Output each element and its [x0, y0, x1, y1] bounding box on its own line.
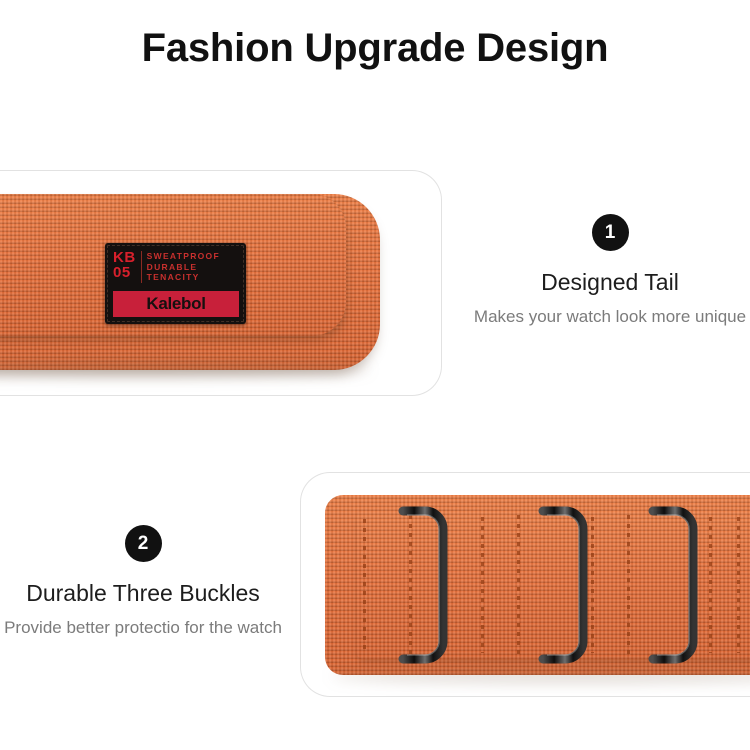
strap-drop-shadow — [331, 669, 750, 683]
callout-durable-buckles: 2 Durable Three Buckles Provide better p… — [3, 525, 283, 640]
label-spec-1: SWEATPROOF — [147, 251, 220, 262]
callout-subtitle-2: Provide better protectio for the watch — [3, 616, 283, 640]
label-spec-3: TENACITY — [147, 272, 220, 283]
callout-badge-1: 1 — [592, 214, 629, 251]
stitch-line — [517, 515, 520, 655]
brand-label: KB 05 SWEATPROOF DURABLE TENACITY Kalebo… — [105, 243, 246, 324]
buckle-loop-2 — [541, 505, 587, 665]
callout-designed-tail: 1 Designed Tail Makes your watch look mo… — [470, 214, 750, 329]
stitch-line — [481, 517, 484, 653]
label-model-block: KB 05 — [113, 250, 136, 280]
label-spec-list: SWEATPROOF DURABLE TENACITY — [147, 250, 220, 283]
brand-bar: Kalebol — [113, 291, 239, 317]
stitch-line — [363, 519, 366, 651]
stitch-line — [627, 515, 630, 655]
watch-strap-buckles-photo — [300, 472, 750, 697]
page-title: Fashion Upgrade Design — [0, 26, 750, 71]
stitch-line — [591, 517, 594, 653]
stitch-line — [709, 517, 712, 653]
label-spec-row: KB 05 SWEATPROOF DURABLE TENACITY — [113, 250, 240, 283]
callout-badge-2: 2 — [125, 525, 162, 562]
label-model-prefix: KB — [113, 250, 136, 265]
callout-title-1: Designed Tail — [470, 269, 750, 296]
buckle-loop-1 — [401, 505, 447, 665]
brand-name: Kalebol — [146, 294, 205, 314]
callout-subtitle-1: Makes your watch look more unique — [470, 305, 750, 329]
label-spec-2: DURABLE — [147, 262, 220, 273]
label-divider — [141, 251, 142, 283]
callout-title-2: Durable Three Buckles — [3, 580, 283, 607]
buckle-loop-3 — [651, 505, 697, 665]
strap-drop-shadow — [0, 361, 370, 377]
stitch-line — [737, 517, 740, 653]
label-model-number: 05 — [113, 265, 136, 280]
